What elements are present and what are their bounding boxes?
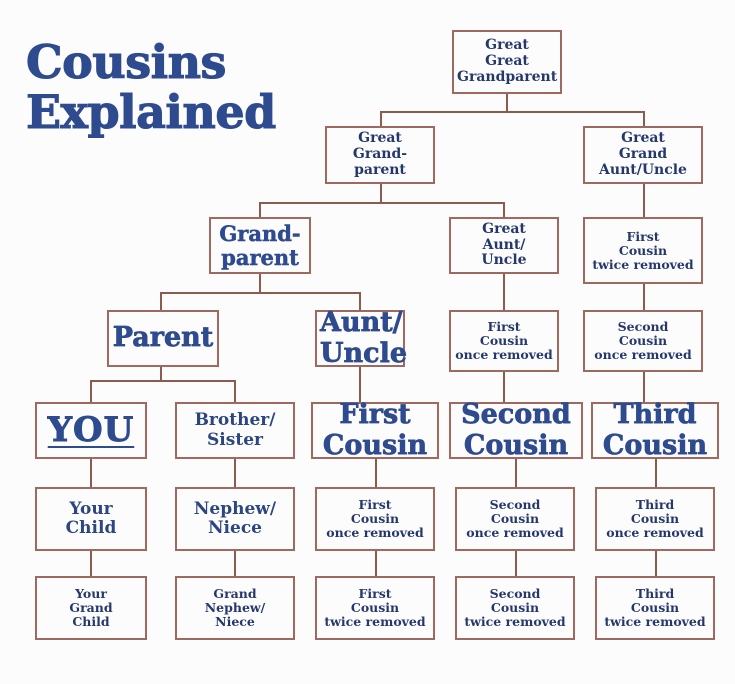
connector-brother-sister-down (234, 458, 236, 487)
node-label: Great Great Grandparent (457, 38, 557, 85)
node-first-cousin-twice-removed-upper[interactable]: First Cousin twice removed (583, 217, 703, 284)
node-brother-sister[interactable]: Brother/ Sister (175, 402, 295, 459)
connector-to-parent (160, 292, 162, 310)
node-first-cousin-once-removed-upper[interactable]: First Cousin once removed (449, 310, 559, 372)
connector-sc1r-low-down (515, 551, 517, 576)
node-your-child[interactable]: Your Child (35, 487, 147, 551)
node-great-great-grandparent[interactable]: Great Great Grandparent (452, 30, 562, 94)
cousins-chart-canvas: Cousins Explained Great Great Gran (0, 0, 735, 684)
node-aunt-uncle[interactable]: Aunt/ Uncle (315, 310, 405, 367)
connector-fc2r-down (643, 283, 645, 310)
connector-grandparent-down (259, 273, 261, 294)
node-first-cousin-once-removed[interactable]: First Cousin once removed (315, 487, 435, 551)
page-title-line-2: Explained (26, 88, 316, 138)
page-title-line-1: Cousins (26, 38, 316, 88)
node-grandparent[interactable]: Grand- parent (209, 217, 311, 274)
connector-great-aunt-down (503, 273, 505, 310)
node-label: Your Grand Child (40, 587, 142, 629)
connector-gen1-bar (380, 111, 644, 113)
node-label: Second Cousin (454, 400, 578, 460)
connector-gen2-bar (259, 202, 504, 204)
connector-sc1r-down (643, 371, 645, 402)
connector-to-you (90, 380, 92, 402)
node-label: First Cousin once removed (454, 320, 554, 362)
connector-great-grandparent-down (380, 183, 382, 204)
node-label: Second Cousin twice removed (460, 587, 570, 629)
node-label: Third Cousin once removed (600, 498, 710, 540)
node-great-grandparent[interactable]: Great Grand- parent (325, 126, 435, 184)
node-second-cousin-twice-removed[interactable]: Second Cousin twice removed (455, 576, 575, 640)
connector-fc1r-down (503, 371, 505, 402)
connector-fc1r-low-down (375, 551, 377, 576)
node-label: Grand- parent (214, 222, 306, 269)
connector-you-down (90, 458, 92, 487)
connector-to-brother-sister (234, 380, 236, 402)
node-third-cousin-twice-removed[interactable]: Third Cousin twice removed (595, 576, 715, 640)
connector-tc1r-low-down (655, 551, 657, 576)
node-label: Grand Nephew/ Niece (180, 587, 290, 629)
node-label: Aunt/ Uncle (320, 308, 400, 368)
node-parent[interactable]: Parent (107, 310, 219, 367)
connector-root-down (506, 93, 508, 113)
connector-second-cousin-down (515, 458, 517, 487)
node-label: Third Cousin twice removed (600, 587, 710, 629)
node-label: Great Grand Aunt/Uncle (588, 131, 698, 178)
node-nephew-niece[interactable]: Nephew/ Niece (175, 487, 295, 551)
node-second-cousin-once-removed[interactable]: Second Cousin once removed (455, 487, 575, 551)
node-label: Third Cousin (596, 400, 714, 460)
node-label: YOU (40, 411, 142, 449)
node-label: Parent (112, 323, 214, 353)
node-label: Second Cousin once removed (460, 498, 570, 540)
node-you[interactable]: YOU (35, 402, 147, 459)
connector-to-great-aunt-uncle (503, 202, 505, 217)
connector-to-great-grandparent (380, 111, 382, 126)
node-label: Your Child (40, 500, 142, 538)
node-great-aunt-uncle[interactable]: Great Aunt/ Uncle (449, 217, 559, 274)
node-label: Nephew/ Niece (180, 500, 290, 538)
connector-aunt-uncle-down (359, 366, 361, 402)
connector-gen4-bar (90, 380, 236, 382)
connector-gen3-bar (160, 292, 360, 294)
connector-first-cousin-down (375, 458, 377, 487)
node-label: First Cousin once removed (320, 498, 430, 540)
node-label: First Cousin twice removed (588, 230, 698, 272)
node-label: Great Aunt/ Uncle (454, 222, 554, 269)
node-label: First Cousin twice removed (320, 587, 430, 629)
node-first-cousin[interactable]: First Cousin (311, 402, 439, 459)
node-third-cousin-once-removed[interactable]: Third Cousin once removed (595, 487, 715, 551)
node-great-grand-aunt-uncle[interactable]: Great Grand Aunt/Uncle (583, 126, 703, 184)
connector-to-grandparent (259, 202, 261, 217)
node-label: Great Grand- parent (330, 131, 430, 178)
connector-to-great-grand-aunt (643, 111, 645, 126)
node-label: First Cousin (316, 400, 434, 460)
connector-your-child-down (90, 551, 92, 576)
node-first-cousin-twice-removed[interactable]: First Cousin twice removed (315, 576, 435, 640)
node-label: Second Cousin once removed (588, 320, 698, 362)
connector-great-grand-aunt-down (643, 183, 645, 217)
page-title: Cousins Explained (26, 38, 316, 137)
node-your-grand-child[interactable]: Your Grand Child (35, 576, 147, 640)
node-grand-nephew-niece[interactable]: Grand Nephew/ Niece (175, 576, 295, 640)
node-label: Brother/ Sister (180, 411, 290, 449)
node-second-cousin[interactable]: Second Cousin (449, 402, 583, 459)
connector-nephew-niece-down (234, 551, 236, 576)
connector-third-cousin-down (655, 458, 657, 487)
node-third-cousin[interactable]: Third Cousin (591, 402, 719, 459)
connector-parent-down (160, 366, 162, 381)
node-second-cousin-once-removed-upper[interactable]: Second Cousin once removed (583, 310, 703, 372)
